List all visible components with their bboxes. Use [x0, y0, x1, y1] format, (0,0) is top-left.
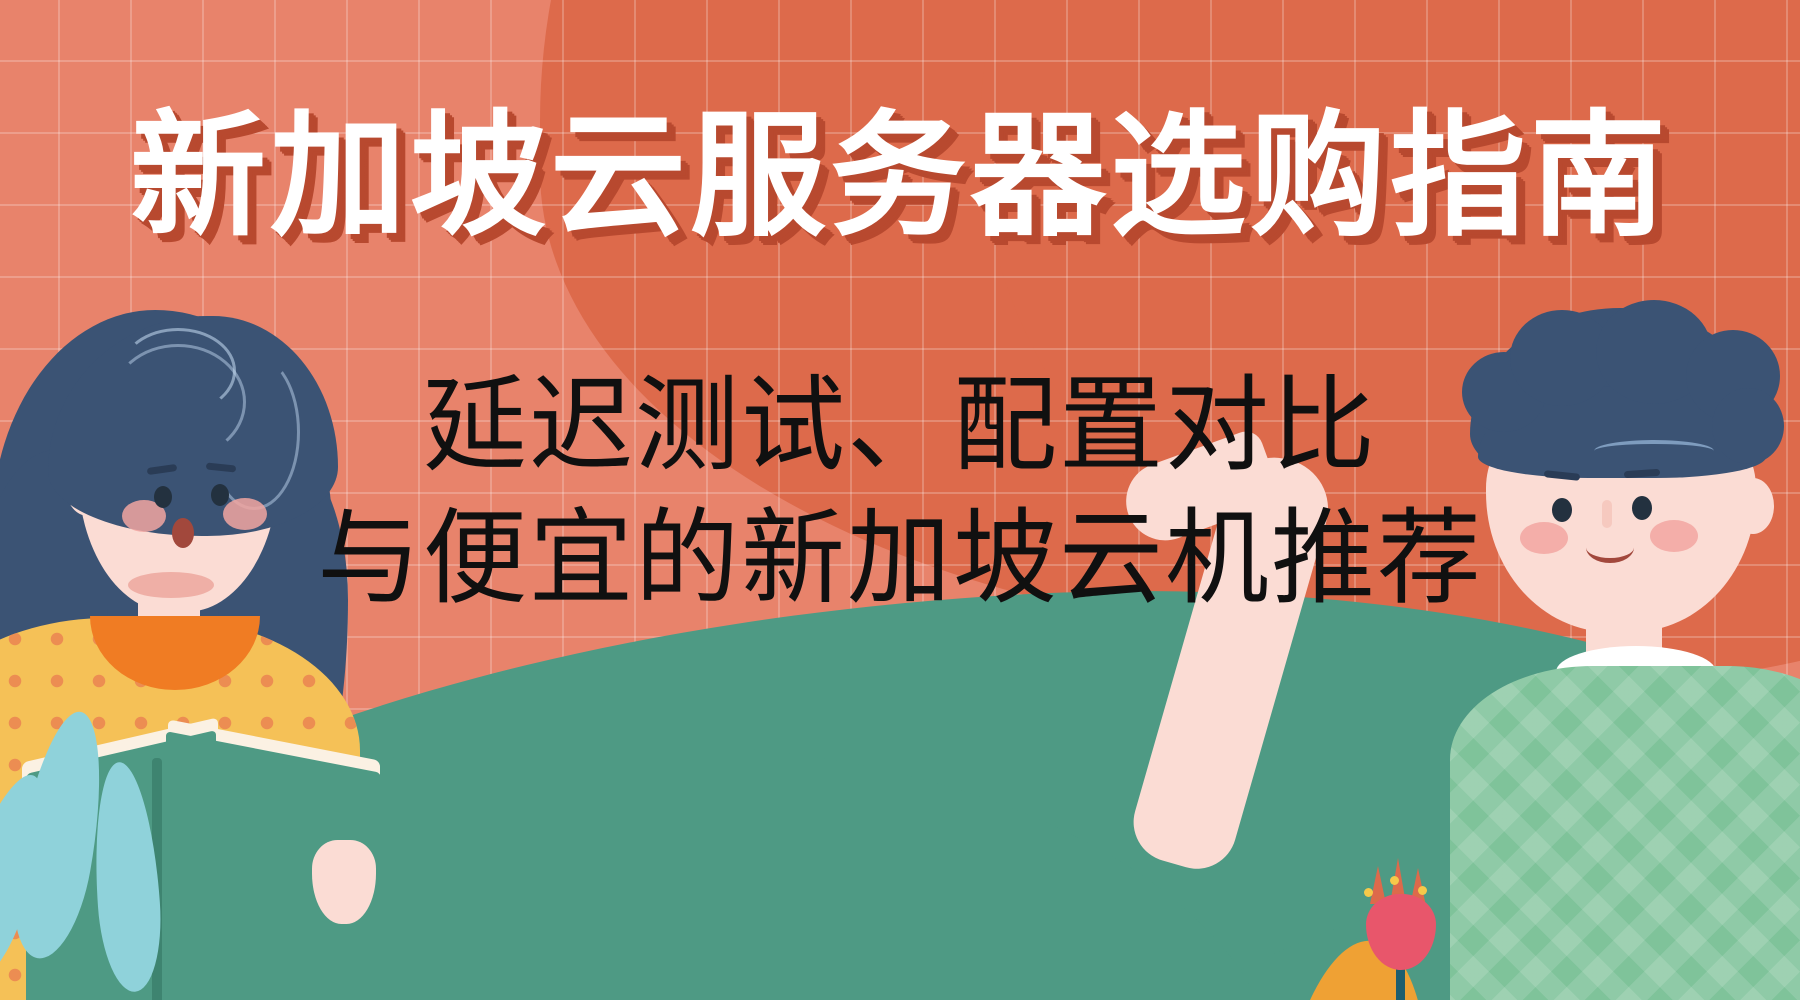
flower-decoration — [1338, 860, 1458, 1000]
flower-head — [1366, 894, 1436, 970]
poster-subtitle-line-1: 延迟测试、配置对比 — [423, 368, 1377, 484]
poster-canvas: 新加坡云服务器选购指南 延迟测试、配置对比 与便宜的新加坡云机推荐 — [0, 0, 1800, 1000]
flower-dot-3 — [1418, 886, 1427, 895]
poster-title: 新加坡云服务器选购指南 — [0, 108, 1800, 244]
flower-dot-2 — [1390, 876, 1399, 885]
flower-dot-1 — [1364, 888, 1373, 897]
poster-subtitle: 延迟测试、配置对比 与便宜的新加坡云机推荐 — [0, 360, 1800, 626]
boy-shirt-pattern — [1450, 666, 1800, 1000]
poster-subtitle-line-2: 与便宜的新加坡云机推荐 — [0, 493, 1800, 626]
